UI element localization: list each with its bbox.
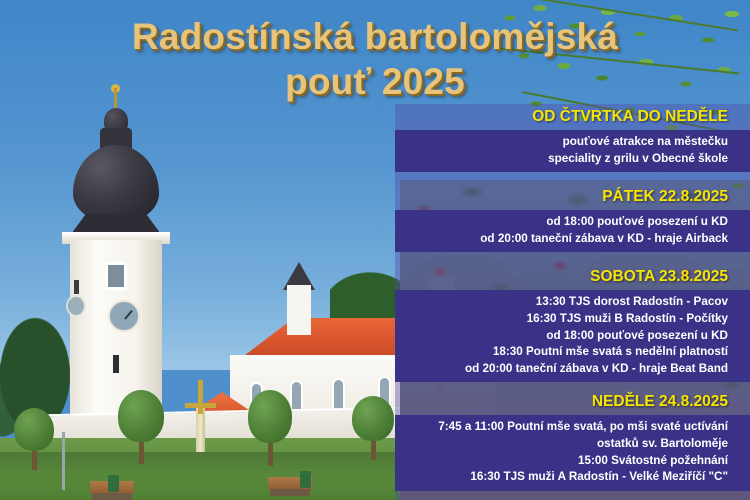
section-heading: SOBOTA 23.8.2025 [395, 264, 750, 290]
schedule-line: 18:30 Poutní mše svatá s nedělní platnos… [395, 344, 728, 361]
poster-root: Radostínská bartolomějská pouť 2025 OD Č… [0, 0, 750, 500]
tower-slit-window [74, 280, 79, 294]
tower-clock-face-side [66, 295, 86, 317]
schedule-line: 7:45 a 11:00 Poutní mše svatá, po mši sv… [395, 419, 728, 436]
schedule-line: od 18:00 pouťové posezení u KD [395, 328, 728, 345]
tree-crown [14, 408, 54, 451]
poster-title-line1: Radostínská bartolomějská [132, 16, 618, 57]
cross-monument-vertical [198, 380, 203, 414]
schedule-line: pouťové atrakce na městečku [395, 134, 728, 151]
church-turret [287, 285, 311, 335]
section-heading: PÁTEK 22.8.2025 [395, 184, 750, 210]
schedule-section-thursday-to-sunday: OD ČTVRTKA DO NEDĚLE pouťové atrakce na … [395, 104, 750, 172]
foreground-tree [14, 408, 54, 470]
tree-trunk [268, 443, 273, 466]
section-body: od 18:00 pouťové posezení u KD od 20:00 … [395, 210, 750, 252]
street-lamp-post [62, 432, 65, 490]
schedule-section-saturday: SOBOTA 23.8.2025 13:30 TJS dorost Radost… [395, 264, 750, 382]
tree-trunk [32, 451, 37, 470]
belfry-window [105, 262, 127, 290]
trash-bin [300, 471, 311, 488]
tree-crown [248, 390, 292, 443]
section-spacer [395, 382, 750, 389]
schedule-line: 13:30 TJS dorost Radostín - Pacov [395, 294, 728, 311]
poster-title: Radostínská bartolomějská pouť 2025 [0, 14, 750, 104]
cross-monument-crossbar [185, 403, 216, 408]
schedule-line: speciality z grilu v Obecné škole [395, 151, 728, 168]
section-spacer [395, 172, 750, 184]
section-heading: OD ČTVRTKA DO NEDĚLE [395, 104, 750, 130]
tree-trunk [371, 441, 376, 460]
section-spacer [395, 252, 750, 264]
schedule-panel: OD ČTVRTKA DO NEDĚLE pouťové atrakce na … [395, 104, 750, 500]
trash-bin [108, 475, 119, 492]
section-heading: NEDĚLE 24.8.2025 [395, 389, 750, 415]
tower-slit-window [113, 355, 119, 373]
schedule-line: ostatků sv. Bartoloměje [395, 436, 728, 453]
foreground-tree [118, 390, 164, 464]
nave-window [332, 378, 345, 412]
tree-crown [118, 390, 164, 442]
schedule-line: od 20:00 taneční zábava v KD - hraje Bea… [395, 361, 728, 378]
section-body: 7:45 a 11:00 Poutní mše svatá, po mši sv… [395, 415, 750, 490]
tree-crown [352, 396, 394, 441]
schedule-line: 16:30 TJS muži B Radostín - Počítky [395, 311, 728, 328]
section-body: pouťové atrakce na městečku speciality z… [395, 130, 750, 172]
tower-clock-face [108, 300, 140, 332]
schedule-section-sunday: NEDĚLE 24.8.2025 7:45 a 11:00 Poutní mše… [395, 389, 750, 490]
foreground-tree [352, 396, 394, 460]
foreground-tree [248, 390, 292, 466]
schedule-line: 15:00 Svátostné požehnání [395, 453, 728, 470]
schedule-section-friday: PÁTEK 22.8.2025 od 18:00 pouťové posezen… [395, 184, 750, 252]
schedule-line: od 20:00 taneční zábava v KD - hraje Air… [395, 231, 728, 248]
schedule-line: 16:30 TJS muži A Radostín - Velké Meziří… [395, 469, 728, 486]
section-body: 13:30 TJS dorost Radostín - Pacov 16:30 … [395, 290, 750, 382]
schedule-line: od 18:00 pouťové posezení u KD [395, 214, 728, 231]
poster-title-line2: pouť 2025 [0, 59, 750, 104]
tree-trunk [139, 442, 144, 464]
